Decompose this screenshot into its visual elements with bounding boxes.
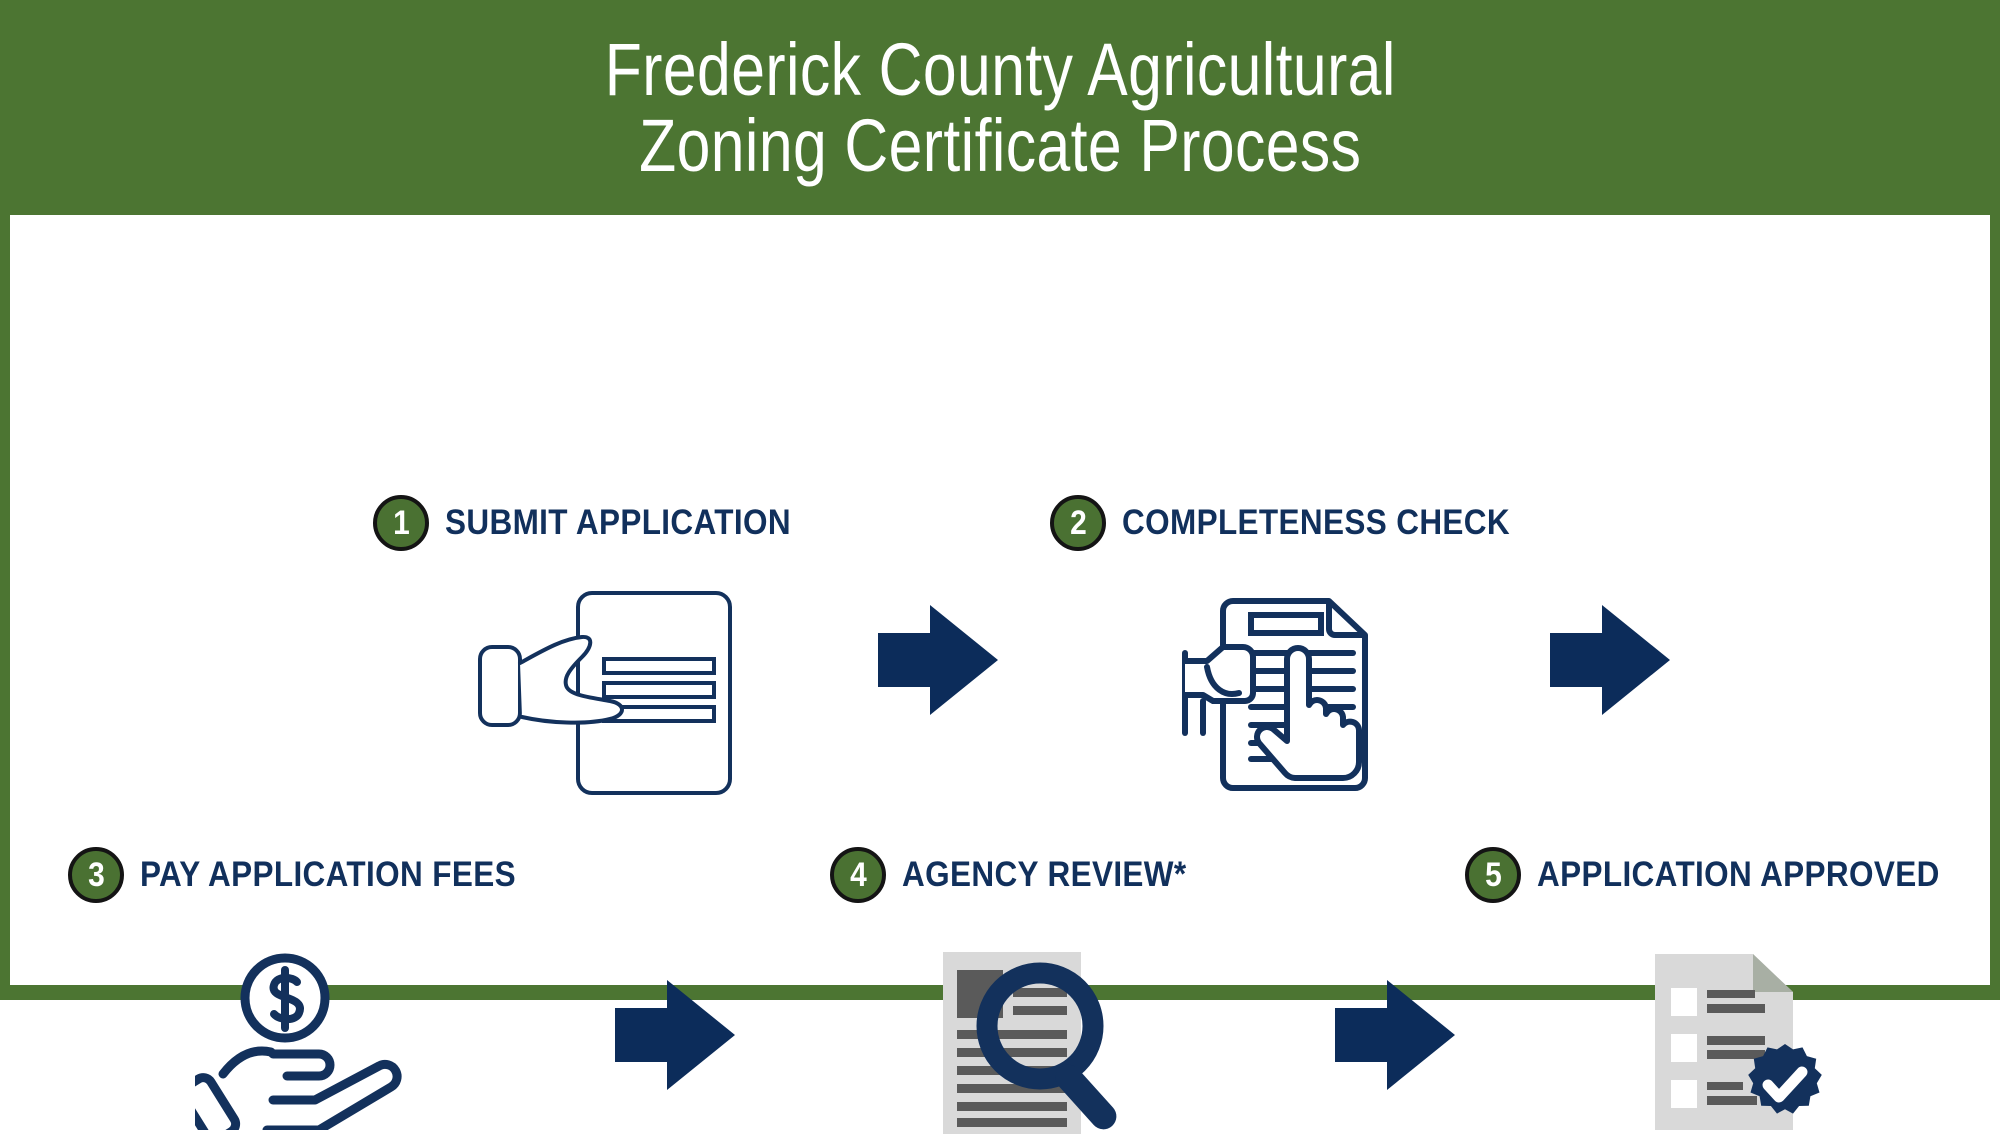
checklist-approved-badge-icon [1645, 950, 1840, 1135]
infographic-root: Frederick County Agricultural Zoning Cer… [0, 0, 2000, 1000]
step-number-4: 4 [850, 858, 867, 892]
document-magnifying-glass-icon [935, 948, 1150, 1138]
step-number-5: 5 [1485, 858, 1502, 892]
step-number-1: 1 [393, 506, 410, 540]
hand-holding-dollar-coin-icon [195, 950, 405, 1130]
header-banner: Frederick County Agricultural Zoning Cer… [0, 0, 2000, 215]
arrow-step4-to-step5 [1335, 980, 1455, 1090]
step-header-2[interactable]: 2 COMPLETENESS CHECK [1050, 495, 1553, 551]
step-label-3: PAY APPLICATION FEES [140, 855, 516, 895]
arrow-step2-to-step3 [1550, 605, 1670, 715]
step-badge-1: 1 [373, 495, 429, 551]
step-header-1[interactable]: 1 SUBMIT APPLICATION [373, 495, 829, 551]
step-label-2: COMPLETENESS CHECK [1122, 503, 1510, 543]
content-panel: 1 SUBMIT APPLICATION 2 [10, 215, 1990, 985]
page-title: Frederick County Agricultural Zoning Cer… [605, 32, 1396, 183]
arrow-step1-to-step2 [878, 605, 998, 715]
step-number-2: 2 [1070, 506, 1087, 540]
step-number-3: 3 [88, 858, 105, 892]
step-badge-4: 4 [830, 847, 886, 903]
step-badge-3: 3 [68, 847, 124, 903]
step-label-1: SUBMIT APPLICATION [445, 503, 791, 543]
step-header-4[interactable]: 4 AGENCY REVIEW* [830, 847, 1218, 903]
step-header-5[interactable]: 5 APPLICATION APPROVED [1465, 847, 1984, 903]
step-label-4: AGENCY REVIEW* [902, 855, 1187, 895]
document-review-hand-pointing-icon [1175, 587, 1390, 792]
hand-submitting-document-icon [470, 585, 740, 800]
step-badge-5: 5 [1465, 847, 1521, 903]
step-label-5: APPLICATION APPROVED [1537, 855, 1940, 895]
arrow-step3-to-step4 [615, 980, 735, 1090]
step-badge-2: 2 [1050, 495, 1106, 551]
step-header-3[interactable]: 3 PAY APPLICATION FEES [68, 847, 558, 903]
